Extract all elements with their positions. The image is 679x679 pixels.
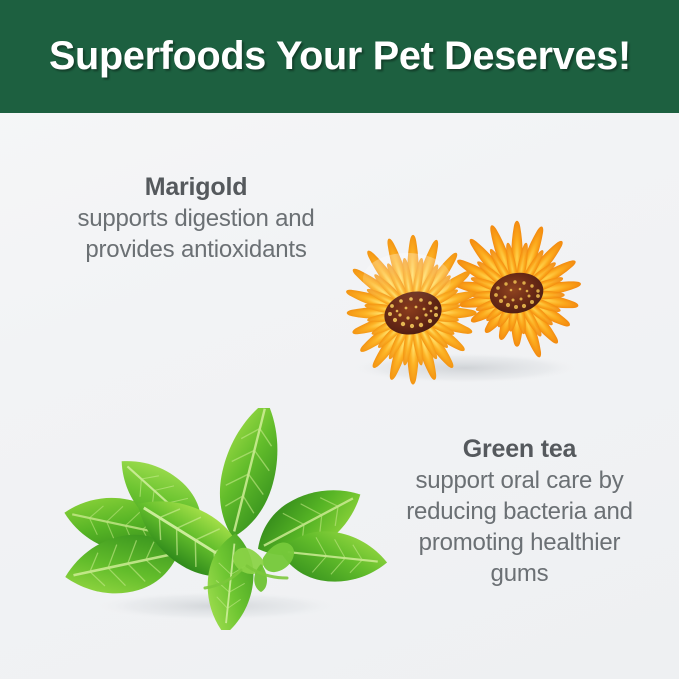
header-banner: Superfoods Your Pet Deserves! — [0, 0, 679, 113]
green-tea-leaves-photo — [35, 408, 390, 630]
green-tea-body-line-3: promoting healthier — [380, 527, 659, 558]
marigold-body-line-2: provides antioxidants — [36, 234, 356, 265]
marigold-caption: Marigold supports digestion and provides… — [36, 172, 356, 265]
green-tea-heading: Green tea — [380, 434, 659, 465]
marigold-heading: Marigold — [36, 172, 356, 203]
green-tea-caption: Green tea support oral care by reducing … — [380, 434, 659, 589]
green-tea-body-line-2: reducing bacteria and — [380, 496, 659, 527]
green-tea-body-line-4: gums — [380, 558, 659, 589]
marigold-body-line-1: supports digestion and — [36, 203, 356, 234]
page-title: Superfoods Your Pet Deserves! — [49, 34, 631, 79]
green-tea-body-line-1: support oral care by — [380, 465, 659, 496]
infographic-canvas: Superfoods Your Pet Deserves! Marigold s… — [0, 0, 679, 679]
